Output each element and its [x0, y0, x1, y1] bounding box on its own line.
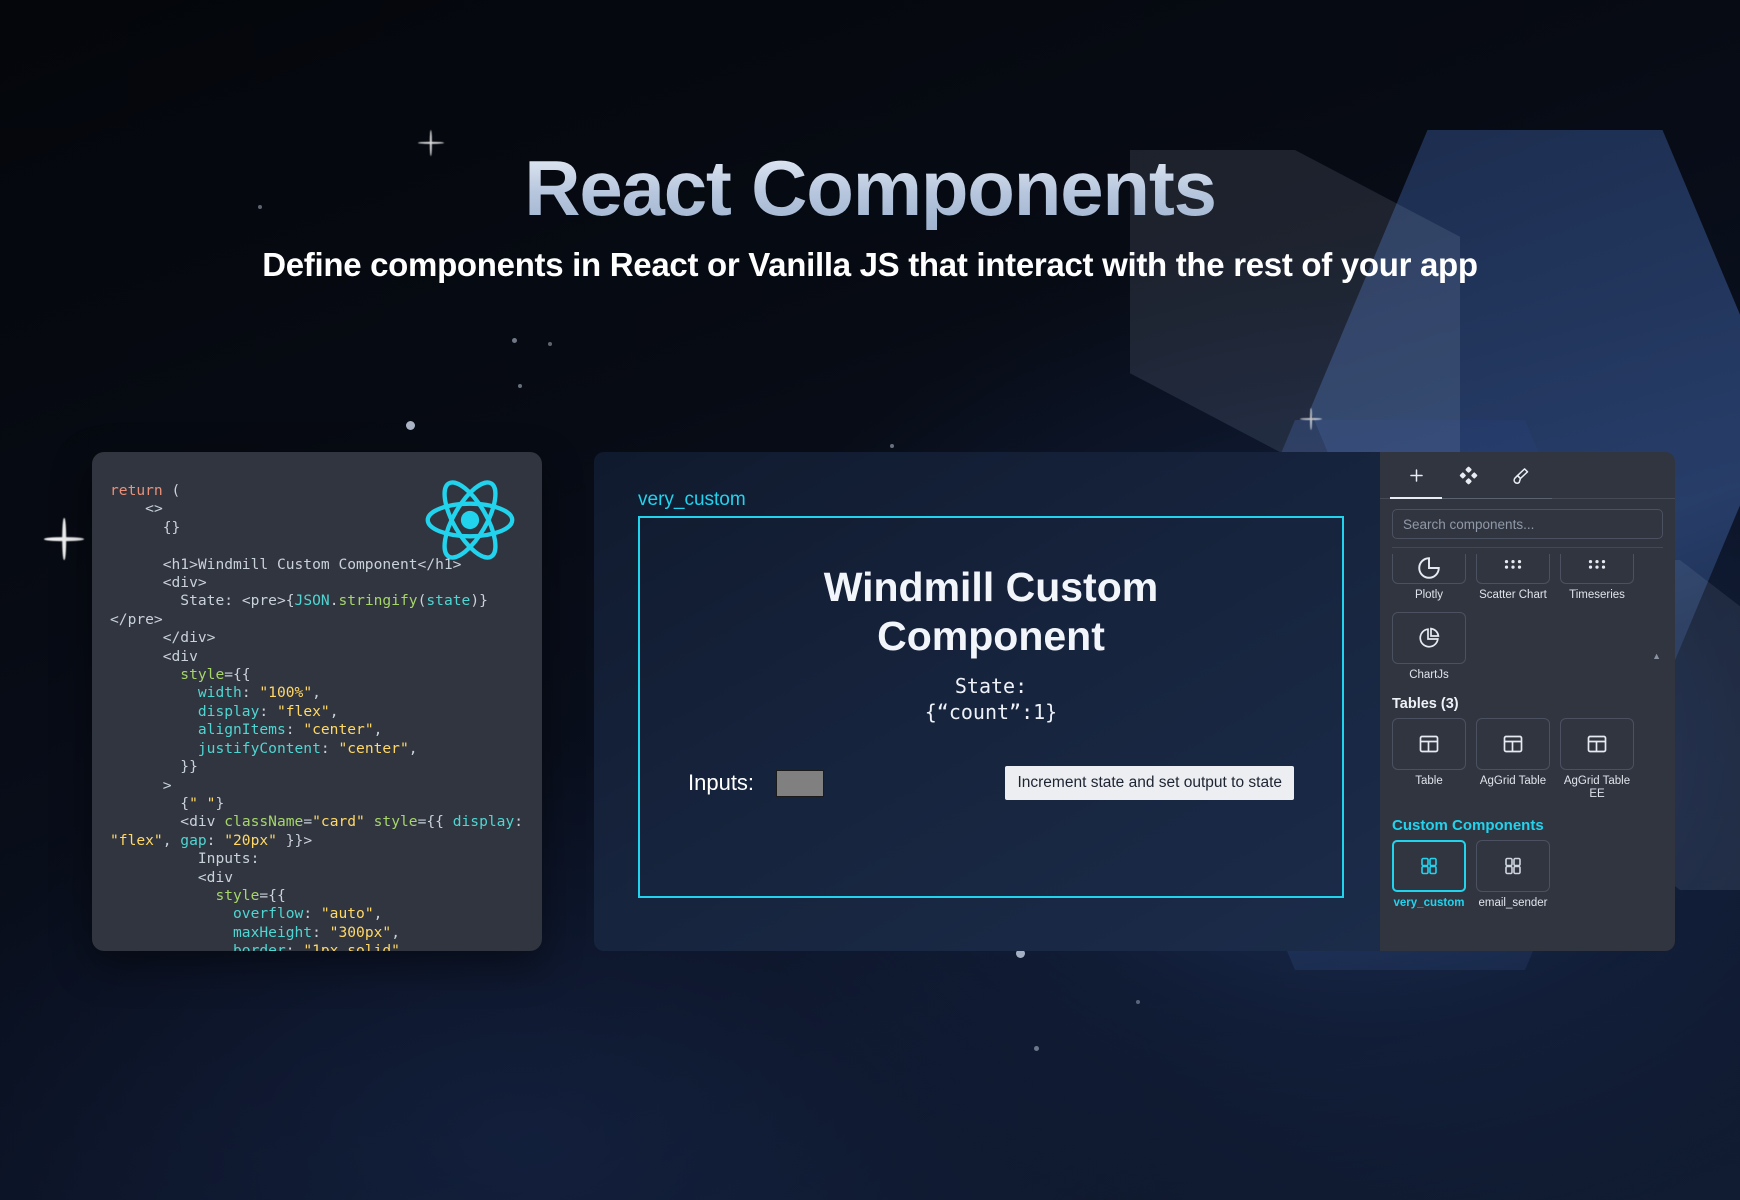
decorative-dot: [406, 421, 415, 430]
chart-tile[interactable]: [1392, 612, 1466, 664]
page-root: React Components Define components in Re…: [0, 0, 1740, 1200]
scatter-chart-icon: [1500, 554, 1526, 579]
palette-tabs: [1380, 452, 1675, 499]
decorative-dot: [512, 338, 517, 343]
code-snippet-card: return ( <> {} <h1>Windmill Custom Compo…: [92, 452, 542, 951]
palette-item-label: email_sender: [1478, 897, 1547, 910]
app-canvas: very_custom Windmill Custom Component St…: [594, 452, 1380, 951]
search-components-input[interactable]: [1392, 509, 1663, 539]
table-icon: [1417, 732, 1441, 756]
pie-chart-icon: [1417, 626, 1441, 650]
palette-item[interactable]: Timeseries: [1560, 554, 1634, 602]
charts-row-clipped: Plotly Scatter Chart: [1392, 554, 1663, 602]
palette-item-label: AgGrid Table EE: [1560, 775, 1634, 801]
sparkle-icon: [1300, 408, 1322, 430]
page-title: React Components: [0, 148, 1740, 230]
palette-item[interactable]: Plotly: [1392, 554, 1466, 602]
tab-rule-segment: [1442, 498, 1552, 500]
table-tile[interactable]: [1392, 718, 1466, 770]
palette-item[interactable]: Table: [1392, 718, 1466, 801]
component-state-display: State: {“count”:1}: [640, 673, 1342, 725]
styling-tab[interactable]: [1494, 456, 1546, 496]
add-component-tab[interactable]: [1390, 456, 1442, 496]
table-icon: [1501, 732, 1525, 756]
section-divider: [1392, 547, 1663, 548]
timeseries-chart-icon: [1584, 554, 1610, 579]
palette-item-label: AgGrid Table: [1480, 775, 1546, 788]
palette-item-label: very_custom: [1394, 897, 1465, 910]
palette-item[interactable]: very_custom: [1392, 840, 1466, 910]
scroll-up-indicator[interactable]: ▲: [1652, 651, 1661, 661]
palette-item[interactable]: email_sender: [1476, 840, 1550, 910]
palette-item-label: Scatter Chart: [1479, 589, 1547, 602]
components-grid-icon: [1459, 466, 1478, 485]
table-icon: [1585, 732, 1609, 756]
palette-scroll-area[interactable]: Plotly Scatter Chart: [1380, 547, 1675, 951]
component-inputs-row: Inputs: Increment state and set output t…: [640, 766, 1342, 800]
plotly-chart-icon: [1416, 555, 1442, 581]
increment-state-button[interactable]: Increment state and set output to state: [1005, 766, 1294, 800]
palette-item-label: Plotly: [1415, 589, 1443, 602]
chart-tile[interactable]: [1560, 554, 1634, 584]
page-subtitle: Define components in React or Vanilla JS…: [0, 246, 1740, 284]
decorative-dot: [1136, 1000, 1140, 1004]
search-wrap: [1380, 499, 1675, 539]
table-tile[interactable]: [1476, 718, 1550, 770]
plus-icon: [1407, 466, 1426, 485]
tables-row: Table AgGrid Table: [1392, 718, 1663, 801]
sparkle-icon: [44, 518, 84, 560]
palette-item[interactable]: AgGrid Table EE: [1560, 718, 1634, 801]
inputs-value-box[interactable]: [776, 770, 824, 797]
palette-item-label: Timeseries: [1569, 589, 1625, 602]
selected-component-frame[interactable]: Windmill Custom Component State: {“count…: [638, 516, 1344, 898]
code-block: return ( <> {} <h1>Windmill Custom Compo…: [92, 452, 542, 951]
state-value: {“count”:1}: [640, 699, 1342, 725]
charts-row-2: ChartJs: [1392, 612, 1663, 682]
decorative-dot: [1034, 1046, 1039, 1051]
decorative-dot: [548, 342, 552, 346]
decorative-dot: [890, 444, 894, 448]
inputs-label: Inputs:: [688, 770, 754, 796]
custom-component-tile[interactable]: [1476, 840, 1550, 892]
tabs-underline: [1380, 498, 1675, 499]
palette-item-label: ChartJs: [1409, 669, 1449, 682]
paintbrush-icon: [1510, 466, 1530, 486]
palette-item[interactable]: Scatter Chart: [1476, 554, 1550, 602]
component-name-label: very_custom: [638, 489, 746, 511]
palette-item-label: Table: [1415, 775, 1443, 788]
palette-item[interactable]: ChartJs: [1392, 612, 1466, 682]
custom-component-tile-selected[interactable]: [1392, 840, 1466, 892]
tables-section-title: Tables (3): [1392, 696, 1663, 712]
custom-components-section-title: Custom Components: [1392, 817, 1663, 834]
chart-tile[interactable]: [1476, 554, 1550, 584]
state-label: State:: [640, 673, 1342, 699]
custom-components-row: very_custom email_sender: [1392, 840, 1663, 910]
decorative-dot: [518, 384, 522, 388]
chart-tile[interactable]: [1392, 554, 1466, 584]
component-heading: Windmill Custom Component: [640, 563, 1342, 661]
custom-component-icon: [1417, 854, 1441, 878]
palette-item[interactable]: AgGrid Table: [1476, 718, 1550, 801]
component-list-tab[interactable]: [1442, 456, 1494, 496]
component-palette-panel: Plotly Scatter Chart: [1380, 452, 1675, 951]
active-tab-indicator: [1390, 497, 1442, 499]
custom-component-icon: [1501, 854, 1525, 878]
table-tile[interactable]: [1560, 718, 1634, 770]
